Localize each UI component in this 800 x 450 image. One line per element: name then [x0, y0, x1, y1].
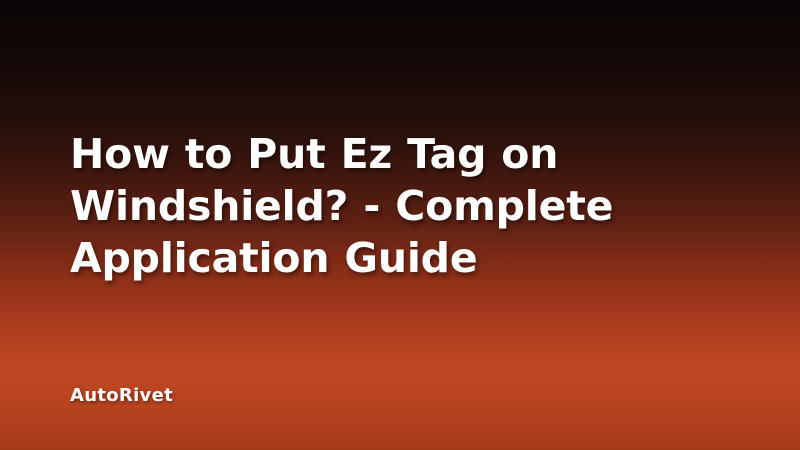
article-hero-banner: How to Put Ez Tag on Windshield? - Compl… — [0, 0, 800, 450]
brand-name: AutoRivet — [70, 385, 173, 406]
brand-container: AutoRivet — [70, 385, 173, 406]
page-title: How to Put Ez Tag on Windshield? - Compl… — [70, 128, 730, 284]
title-container: How to Put Ez Tag on Windshield? - Compl… — [0, 128, 800, 284]
